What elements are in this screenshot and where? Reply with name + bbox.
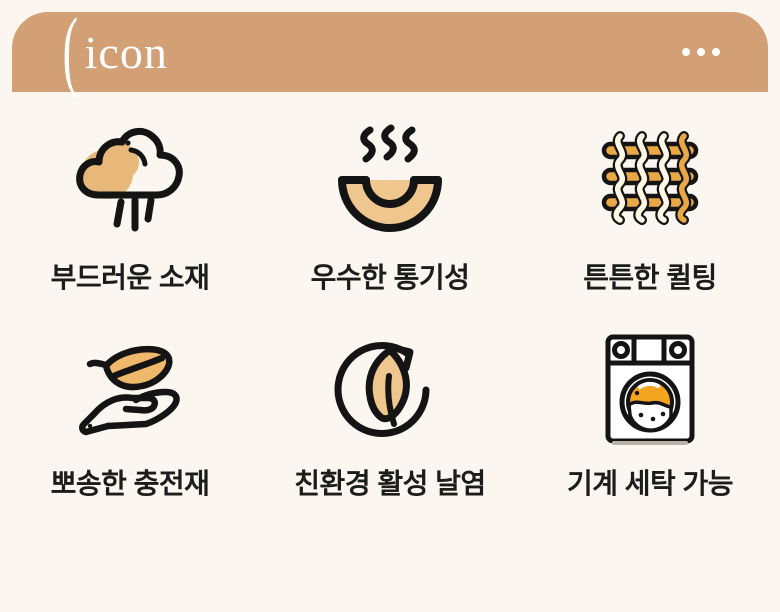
ellipsis-dot [697, 48, 705, 56]
feature-grid: 부드러운 소재 [0, 104, 780, 528]
feature-item-breathability: 우수한 통기성 [260, 104, 520, 316]
feature-label: 튼튼한 퀼팅 [583, 256, 717, 296]
open-parenthesis-decoration: ( [63, 5, 78, 95]
ellipsis-icon[interactable] [682, 48, 720, 56]
icon-feature-board: ( icon [0, 0, 780, 612]
feature-item-soft-material: 부드러운 소재 [0, 104, 260, 316]
rain-cloud-icon [60, 114, 200, 242]
feature-item-quilting: 튼튼한 퀼팅 [520, 104, 780, 316]
steaming-bowl-icon [320, 114, 460, 242]
washing-machine-icon [580, 326, 720, 454]
page-title: icon [85, 30, 168, 76]
eco-leaf-recycle-icon [320, 326, 460, 454]
hand-holding-feather-icon [60, 326, 200, 454]
ellipsis-dot [712, 48, 720, 56]
feature-item-machine-washable: 기계 세탁 가능 [520, 316, 780, 528]
feature-label: 부드러운 소재 [51, 256, 210, 296]
feature-item-filling: 뽀송한 충전재 [0, 316, 260, 528]
feature-label: 뽀송한 충전재 [51, 462, 210, 502]
feature-label: 친환경 활성 날염 [294, 462, 485, 502]
ellipsis-dot [682, 48, 690, 56]
header-title-group: ( icon [58, 15, 168, 89]
woven-fabric-icon [580, 114, 720, 242]
feature-label: 기계 세탁 가능 [567, 462, 733, 502]
feature-item-eco-printing: 친환경 활성 날염 [260, 316, 520, 528]
feature-label: 우수한 통기성 [311, 256, 470, 296]
header-bar: ( icon [12, 12, 768, 92]
